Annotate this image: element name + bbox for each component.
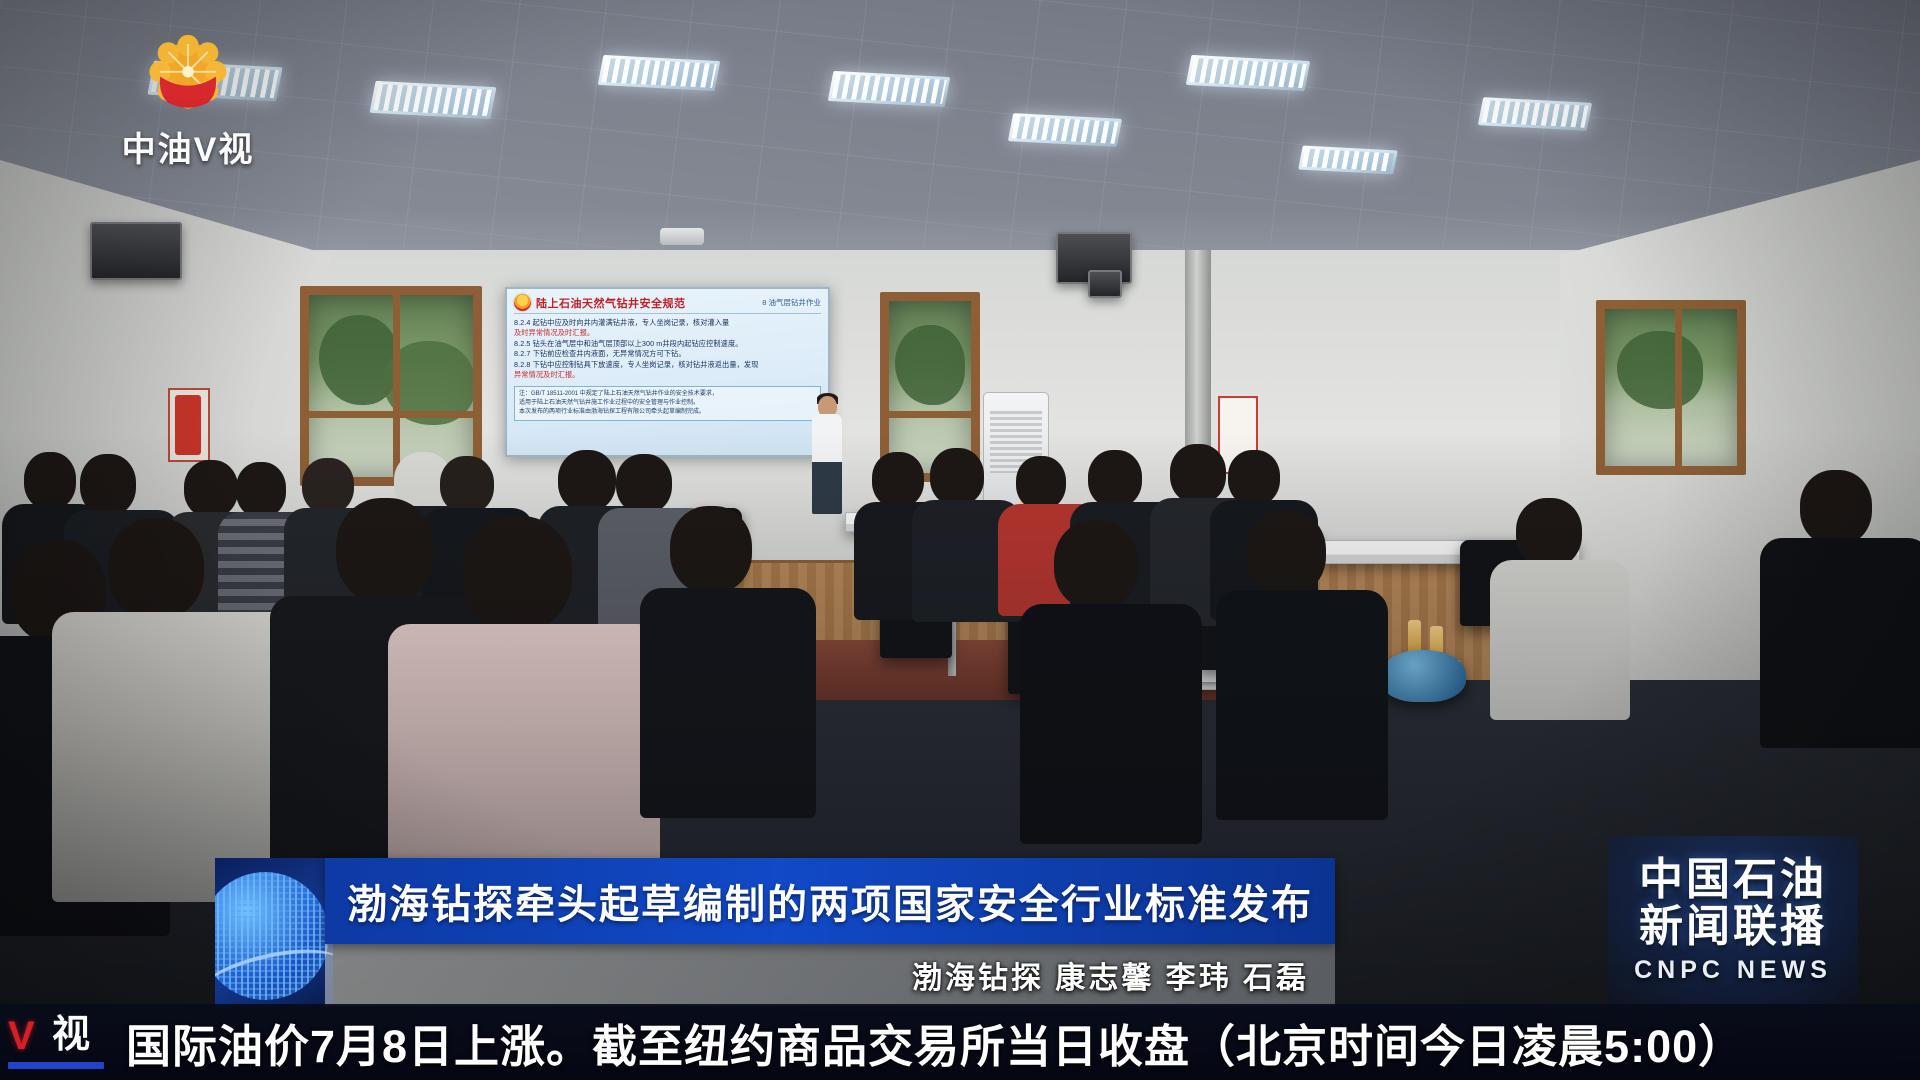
slide-note-line: 注：GB/T 18511-2001 中规定了陆上石油天然气钻井作业的安全技术要求… [519,390,816,399]
slide-line: 8.2.4 起钻中应及时向井内灌满钻井液，专人坐岗记录，核对灌入量 [514,318,821,328]
ticker-logo-bar [8,1062,104,1069]
slide-line: 8.2.7 下钻前应检查井内液面，无异常情况方可下钻。 [514,349,821,359]
news-ticker: V 视 国际油价7月8日上涨。截至纽约商品交易所当日收盘（北京时间今日凌晨5:0… [0,1004,1920,1080]
slide-section-label: 8 油气层钻井作业 [762,297,821,308]
credits-text: 渤海钻探 康志馨 李玮 石磊 [912,953,1309,997]
lower-third: 渤海钻探牵头起草编制的两项国家安全行业标准发布 渤海钻探 康志馨 李玮 石磊 [215,858,1335,1006]
slide-header: 陆上石油天然气钻井安全规范 8 油气层钻井作业 [514,294,821,314]
slide-line: 8.2.5 钻头在油气层中和油气层顶部以上300 m井段内起钻应控制速度。 [514,339,821,349]
ticker-logo: V 视 [6,1014,106,1070]
channel-name-line1: 中国石油 [1639,857,1827,903]
channel-bug: 中国石油 新闻联播 CNPC NEWS [1608,836,1858,1006]
ticker-message: 国际油价7月8日上涨。截至纽约商品交易所当日收盘（北京时间今日凌晨5:00） [126,1010,1744,1075]
slide-line: 8.2.8 下钻中应控制钻具下放速度，专人坐岗记录，核对钻井液返出量，发现 [514,360,821,370]
slide-note-line: 适用于陆上石油天然气钻井施工作业过程中的安全管理与作业控制。 [519,399,816,408]
broadcast-frame: 陆上石油天然气钻井安全规范 8 油气层钻井作业 8.2.4 起钻中应及时向井内灌… [0,0,1920,1080]
ceiling-lamp [598,55,721,91]
watermark-text: 中油V视 [78,122,298,171]
ticker-logo-v: V [8,1016,35,1056]
slide-line-tail: 异常情况及时汇报。 [514,370,821,380]
ceiling-lamp [1008,113,1122,147]
channel-watermark: 中油V视 [78,34,298,171]
slide-line: 及时异常情况及时汇报。 [514,328,821,338]
cnpc-emblem-icon [514,294,531,311]
slide-body: 8.2.4 起钻中应及时向井内灌满钻井液，专人坐岗记录，核对灌入量 及时异常情况… [514,318,821,421]
projector [660,228,704,245]
slide-note-box: 注：GB/T 18511-2001 中规定了陆上石油天然气钻井作业的安全技术要求… [514,386,821,421]
ceiling-lamp [1478,97,1592,131]
channel-name-english: CNPC NEWS [1634,956,1832,985]
credits-bar: 渤海钻探 康志馨 李玮 石磊 [325,944,1335,1006]
slide-title: 陆上石油天然气钻井安全规范 [536,295,686,311]
slide-note-line: 本次发布的两项行业标准由渤海钻探工程有限公司牵头起草编制完成。 [519,408,816,417]
wall-speaker-left [90,222,182,280]
ticker-logo-text: 视 [52,1016,90,1054]
headline-text: 渤海钻探牵头起草编制的两项国家安全行业标准发布 [347,872,1313,930]
ceiling-lamp [1186,55,1311,91]
ceiling-lamp [828,71,951,107]
ceiling-lamp [1298,145,1398,174]
wall-speaker-small-right [1088,270,1122,298]
channel-name-line2: 新闻联播 [1639,904,1827,950]
cnpc-sunflower-logo-icon [147,34,229,116]
globe-icon [215,858,333,1006]
headline-bar: 渤海钻探牵头起草编制的两项国家安全行业标准发布 [325,858,1335,944]
ceiling-lamp [370,81,497,119]
